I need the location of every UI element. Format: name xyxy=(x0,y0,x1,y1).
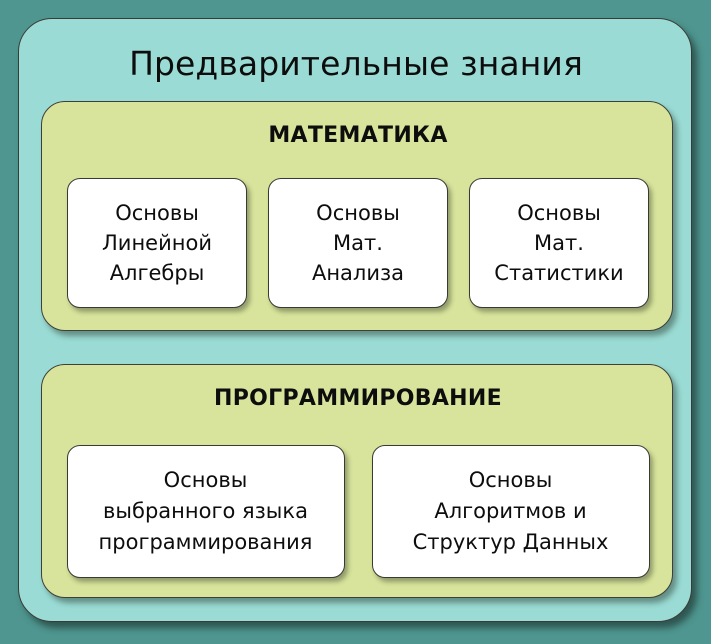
card-linear-algebra[interactable]: Основы Линейной Алгебры xyxy=(67,178,247,308)
prerequisites-panel: Предварительные знания МАТЕМАТИКА Основы… xyxy=(18,18,692,622)
card-algorithms-data-structures[interactable]: Основы Алгоритмов и Структур Данных xyxy=(372,445,650,578)
card-label-calculus: Основы Мат. Анализа xyxy=(306,198,410,288)
card-calculus[interactable]: Основы Мат. Анализа xyxy=(268,178,448,308)
card-label-algorithms-data-structures: Основы Алгоритмов и Структур Данных xyxy=(407,465,615,558)
page-title: Предварительные знания xyxy=(19,45,693,83)
section-mathematics: МАТЕМАТИКА Основы Линейной Алгебры Основ… xyxy=(41,101,673,331)
card-label-linear-algebra: Основы Линейной Алгебры xyxy=(96,198,218,288)
card-label-chosen-language: Основы выбранного языка программирования xyxy=(93,465,319,558)
section-title-mathematics: МАТЕМАТИКА xyxy=(42,123,674,149)
card-chosen-language[interactable]: Основы выбранного языка программирования xyxy=(67,445,345,578)
section-programming: ПРОГРАММИРОВАНИЕ Основы выбранного языка… xyxy=(41,364,673,598)
section-title-programming: ПРОГРАММИРОВАНИЕ xyxy=(42,386,674,412)
programming-card-row: Основы выбранного языка программирования… xyxy=(42,445,674,578)
diagram-canvas: Предварительные знания МАТЕМАТИКА Основы… xyxy=(0,0,711,644)
mathematics-card-row: Основы Линейной Алгебры Основы Мат. Анал… xyxy=(42,178,674,308)
card-label-statistics: Основы Мат. Статистики xyxy=(488,198,629,288)
card-statistics[interactable]: Основы Мат. Статистики xyxy=(469,178,649,308)
